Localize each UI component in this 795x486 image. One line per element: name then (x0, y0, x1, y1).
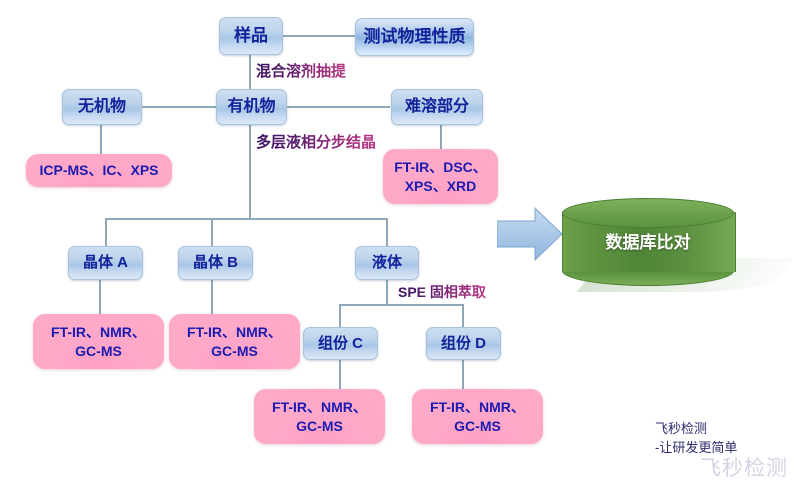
brand-tagline-line1: 飞秒检测 (655, 420, 737, 439)
node-sample-label: 样品 (234, 26, 268, 46)
node-insoluble[interactable]: 难溶部分 (391, 89, 483, 125)
connector-insoluble-to-methods (440, 123, 442, 149)
methods-crystal-a[interactable]: FT-IR、NMR、 GC-MS (33, 314, 164, 369)
connector-organic-down (249, 123, 251, 219)
methods-crystal-b-line2: GC-MS (187, 342, 282, 361)
methods-fraction-d[interactable]: FT-IR、NMR、 GC-MS (412, 389, 543, 444)
brand-tagline-line2: -让研发更简单 (655, 439, 737, 458)
methods-insoluble-line1: FT-IR、DSC、 (394, 158, 487, 177)
connector-bus-to-crystal-b (211, 218, 213, 247)
node-fraction-d[interactable]: 组份 D (426, 327, 501, 360)
node-physical-test-label: 测试物理性质 (364, 27, 466, 47)
connector-inorganic-to-methods (100, 123, 102, 154)
process-label-crystallization-text: 多层液相分步结晶 (256, 134, 376, 151)
process-label-extraction: 混合溶剂抽提 (256, 60, 346, 81)
node-crystal-a[interactable]: 晶体 A (68, 246, 143, 280)
node-organic-label: 有机物 (227, 98, 275, 116)
connector-bus-to-crystal-a (105, 218, 107, 247)
methods-fraction-d-line2: GC-MS (430, 417, 525, 436)
connector-bus-to-fraction-c (339, 304, 341, 327)
connector-sample-to-physical-test (283, 35, 355, 37)
node-crystal-a-label: 晶体 A (83, 254, 128, 271)
methods-crystal-b-line1: FT-IR、NMR、 (187, 323, 282, 342)
node-crystal-b[interactable]: 晶体 B (178, 246, 253, 280)
methods-crystal-a-text: FT-IR、NMR、 GC-MS (51, 323, 146, 361)
methods-inorganic[interactable]: ICP-MS、IC、XPS (26, 154, 172, 187)
node-physical-test[interactable]: 测试物理性质 (355, 18, 474, 56)
methods-crystal-a-line1: FT-IR、NMR、 (51, 323, 146, 342)
node-fraction-c[interactable]: 组份 C (303, 327, 378, 360)
connector-liquid-down (386, 278, 388, 305)
methods-crystal-a-line2: GC-MS (51, 342, 146, 361)
connector-fraction-bus (339, 304, 463, 306)
connector-fraction-c-to-methods (339, 358, 341, 389)
database-cylinder-top (562, 198, 734, 228)
methods-fraction-c-line2: GC-MS (272, 417, 367, 436)
methods-fraction-d-text: FT-IR、NMR、 GC-MS (430, 398, 525, 436)
methods-inorganic-label: ICP-MS、IC、XPS (39, 161, 158, 180)
node-inorganic-label: 无机物 (78, 98, 126, 116)
arrow-to-database-icon (497, 206, 563, 262)
node-database-label: 数据库比对 (562, 228, 734, 253)
node-fraction-c-label: 组份 C (318, 335, 363, 352)
node-liquid-label: 液体 (372, 254, 402, 271)
methods-insoluble-text: FT-IR、DSC、 XPS、XRD (394, 158, 487, 196)
connector-inorganic-to-organic (141, 106, 216, 108)
node-sample[interactable]: 样品 (219, 17, 283, 55)
connector-crystal-b-to-methods (211, 278, 213, 314)
methods-crystal-b-text: FT-IR、NMR、 GC-MS (187, 323, 282, 361)
methods-fraction-c-line1: FT-IR、NMR、 (272, 398, 367, 417)
node-fraction-d-label: 组份 D (441, 335, 486, 352)
methods-fraction-d-line1: FT-IR、NMR、 (430, 398, 525, 417)
connector-sample-to-organic (249, 53, 251, 91)
brand-tagline: 飞秒检测 -让研发更简单 (655, 420, 737, 458)
node-liquid[interactable]: 液体 (355, 246, 419, 280)
node-inorganic[interactable]: 无机物 (62, 89, 142, 125)
node-crystal-b-label: 晶体 B (193, 254, 238, 271)
methods-fraction-c[interactable]: FT-IR、NMR、 GC-MS (254, 389, 385, 444)
methods-insoluble-line2: XPS、XRD (394, 177, 487, 196)
node-organic[interactable]: 有机物 (216, 89, 287, 125)
methods-crystal-b[interactable]: FT-IR、NMR、 GC-MS (169, 314, 300, 369)
diagram-canvas: 样品 测试物理性质 无机物 有机物 难溶部分 晶体 A 晶体 B 液体 组份 C… (0, 0, 795, 486)
process-label-extraction-text: 混合溶剂抽提 (256, 63, 346, 80)
connector-organic-to-insoluble (285, 106, 390, 108)
connector-bus-to-fraction-d (462, 304, 464, 327)
process-label-spe: SPE 固相萃取 (398, 282, 486, 302)
connector-fraction-d-to-methods (462, 358, 464, 389)
methods-fraction-c-text: FT-IR、NMR、 GC-MS (272, 398, 367, 436)
connector-split-bus (105, 218, 387, 220)
node-insoluble-label: 难溶部分 (405, 98, 469, 116)
process-label-spe-text: SPE 固相萃取 (398, 284, 486, 300)
connector-crystal-a-to-methods (99, 278, 101, 314)
methods-insoluble[interactable]: FT-IR、DSC、 XPS、XRD (383, 149, 498, 204)
process-label-crystallization: 多层液相分步结晶 (256, 131, 376, 152)
connector-bus-to-liquid (386, 218, 388, 247)
